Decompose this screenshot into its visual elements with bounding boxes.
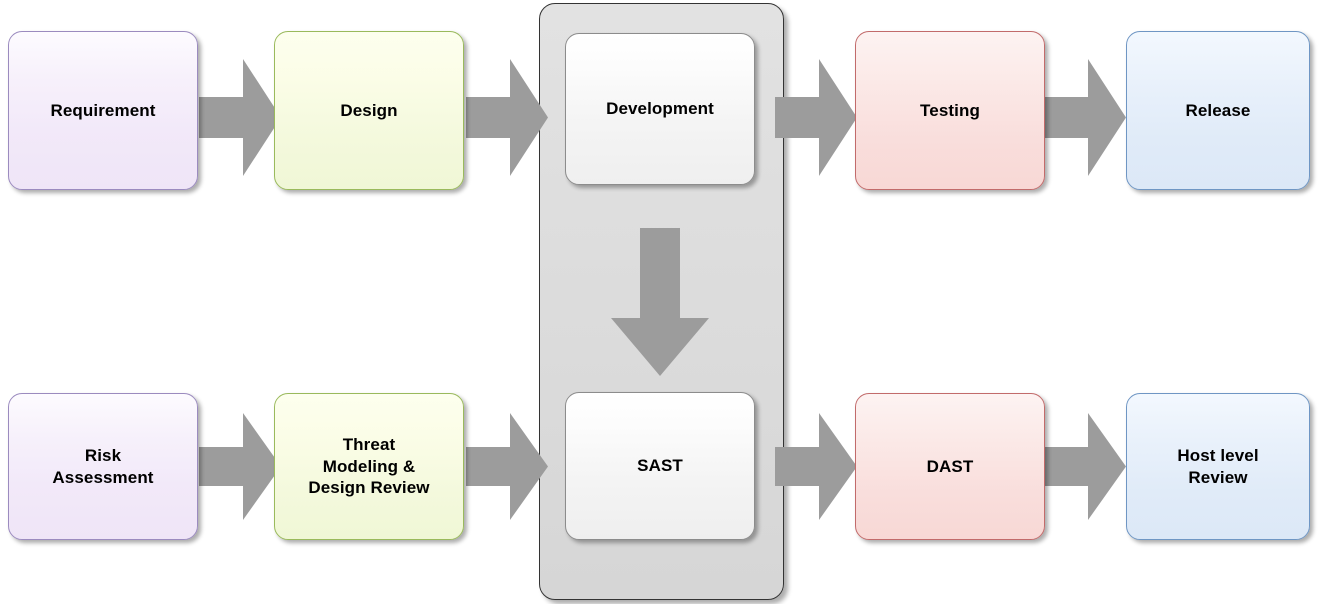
node-threat-modeling-label: ThreatModeling &Design Review bbox=[302, 434, 435, 499]
node-design-label: Design bbox=[334, 100, 403, 122]
arrow-risk-to-threat-modeling bbox=[199, 413, 281, 520]
node-requirement-label: Requirement bbox=[44, 100, 161, 122]
node-host-level-review-label: Host levelReview bbox=[1171, 445, 1264, 489]
arrow-requirement-to-design bbox=[199, 59, 281, 176]
arrow-dast-to-host-level-review bbox=[1044, 413, 1126, 520]
node-risk-assessment-label: RiskAssessment bbox=[46, 445, 159, 489]
node-threat-modeling[interactable]: ThreatModeling &Design Review bbox=[274, 393, 464, 540]
arrow-sast-to-dast bbox=[775, 413, 857, 520]
node-testing[interactable]: Testing bbox=[855, 31, 1045, 190]
node-dast-label: DAST bbox=[921, 456, 980, 478]
arrow-threat-modeling-to-sast bbox=[466, 413, 548, 520]
node-development-label: Development bbox=[600, 98, 720, 120]
node-design[interactable]: Design bbox=[274, 31, 464, 190]
node-release[interactable]: Release bbox=[1126, 31, 1310, 190]
node-risk-assessment[interactable]: RiskAssessment bbox=[8, 393, 198, 540]
node-development[interactable]: Development bbox=[565, 33, 755, 185]
node-release-label: Release bbox=[1180, 100, 1257, 122]
node-host-level-review[interactable]: Host levelReview bbox=[1126, 393, 1310, 540]
arrow-testing-to-release bbox=[1044, 59, 1126, 176]
arrow-design-to-development bbox=[466, 59, 548, 176]
arrow-development-to-sast bbox=[611, 228, 709, 376]
node-requirement[interactable]: Requirement bbox=[8, 31, 198, 190]
node-sast-label: SAST bbox=[631, 455, 689, 477]
diagram-canvas: Requirement Design Development Testing R… bbox=[0, 0, 1318, 604]
node-dast[interactable]: DAST bbox=[855, 393, 1045, 540]
arrow-development-to-testing bbox=[775, 59, 857, 176]
node-sast[interactable]: SAST bbox=[565, 392, 755, 540]
node-testing-label: Testing bbox=[914, 100, 986, 122]
